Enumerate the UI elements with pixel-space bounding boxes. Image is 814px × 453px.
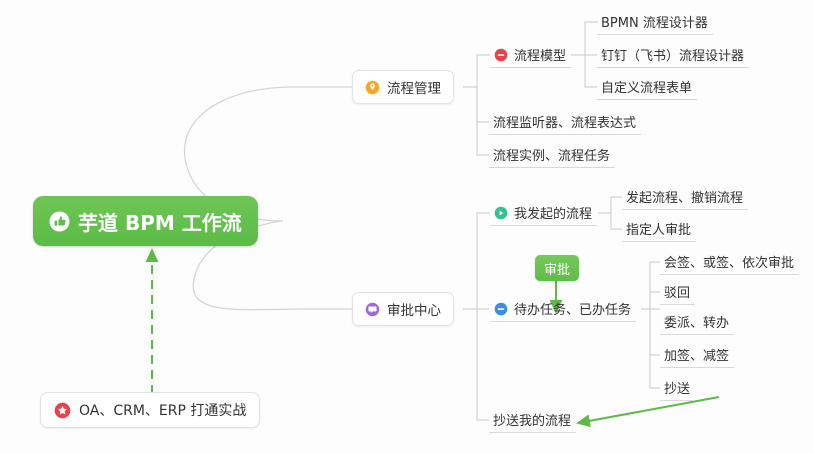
node-reject-label: 驳回 (664, 282, 690, 301)
node-instance-task-label: 流程实例、流程任务 (493, 145, 610, 164)
note-oa-crm-erp[interactable]: OA、CRM、ERP 打通实战 (40, 392, 260, 428)
node-assignee-approve-label: 指定人审批 (626, 219, 691, 238)
node-cc-to-me-label: 抄送我的流程 (493, 410, 571, 429)
node-approval-center-label: 审批中心 (387, 299, 441, 319)
node-approval-center[interactable]: 审批中心 (352, 292, 454, 326)
node-bpmn-designer-label: BPMN 流程设计器 (601, 12, 708, 31)
node-process-management-label: 流程管理 (387, 77, 441, 97)
floating-label-approve-text: 审批 (544, 259, 570, 278)
chat-bubble-icon (365, 302, 380, 317)
node-instance-task[interactable]: 流程实例、流程任务 (489, 142, 615, 168)
minus-circle-blue-icon (494, 302, 508, 316)
arrow-cc-to-ccme (578, 397, 719, 423)
node-my-initiated-label: 我发起的流程 (514, 203, 592, 222)
node-start-cancel[interactable]: 发起流程、撤销流程 (622, 184, 748, 210)
location-pin-icon (365, 80, 380, 95)
node-cc-label: 抄送 (664, 378, 690, 397)
node-add-sub-sign[interactable]: 加签、减签 (660, 342, 734, 368)
node-process-model[interactable]: 流程模型 (490, 42, 571, 68)
root-label: 芋道 BPM 工作流 (78, 207, 242, 236)
node-cc[interactable]: 抄送 (660, 375, 695, 401)
node-listener-expression-label: 流程监听器、流程表达式 (493, 112, 636, 131)
node-start-cancel-label: 发起流程、撤销流程 (626, 187, 743, 206)
node-assignee-approve[interactable]: 指定人审批 (622, 216, 696, 242)
note-oa-crm-erp-label: OA、CRM、ERP 打通实战 (79, 400, 246, 420)
node-multi-approve[interactable]: 会签、或签、依次审批 (660, 249, 799, 275)
node-delegate-transfer-label: 委派、转办 (664, 312, 729, 331)
node-bpmn-designer[interactable]: BPMN 流程设计器 (597, 9, 713, 35)
thumbs-up-icon (49, 211, 70, 232)
floating-label-approve[interactable]: 审批 (535, 255, 579, 281)
node-process-management[interactable]: 流程管理 (352, 70, 454, 104)
node-delegate-transfer[interactable]: 委派、转办 (660, 309, 734, 335)
node-multi-approve-label: 会签、或签、依次审批 (664, 252, 794, 271)
node-custom-process-form[interactable]: 自定义流程表单 (597, 74, 697, 100)
node-add-sub-sign-label: 加签、减签 (664, 345, 729, 364)
node-dingtalk-feishu-designer-label: 钉钉（飞书）流程设计器 (601, 45, 744, 64)
mindmap-canvas: 芋道 BPM 工作流 流程管理 流程模型 BPMN 流程设计器 钉钉（飞书）流程… (0, 0, 814, 453)
node-custom-process-form-label: 自定义流程表单 (601, 77, 692, 96)
root-node[interactable]: 芋道 BPM 工作流 (33, 196, 258, 246)
node-process-model-label: 流程模型 (514, 45, 566, 64)
node-todo-done-label: 待办任务、已办任务 (514, 299, 631, 318)
node-cc-to-me[interactable]: 抄送我的流程 (489, 407, 576, 433)
node-dingtalk-feishu-designer[interactable]: 钉钉（飞书）流程设计器 (597, 42, 749, 68)
node-todo-done[interactable]: 待办任务、已办任务 (490, 296, 636, 322)
node-listener-expression[interactable]: 流程监听器、流程表达式 (489, 109, 641, 135)
star-circle-icon (54, 402, 71, 419)
minus-circle-icon (494, 48, 508, 62)
node-reject[interactable]: 驳回 (660, 279, 695, 305)
node-my-initiated[interactable]: 我发起的流程 (490, 200, 597, 226)
play-circle-icon (494, 206, 508, 220)
